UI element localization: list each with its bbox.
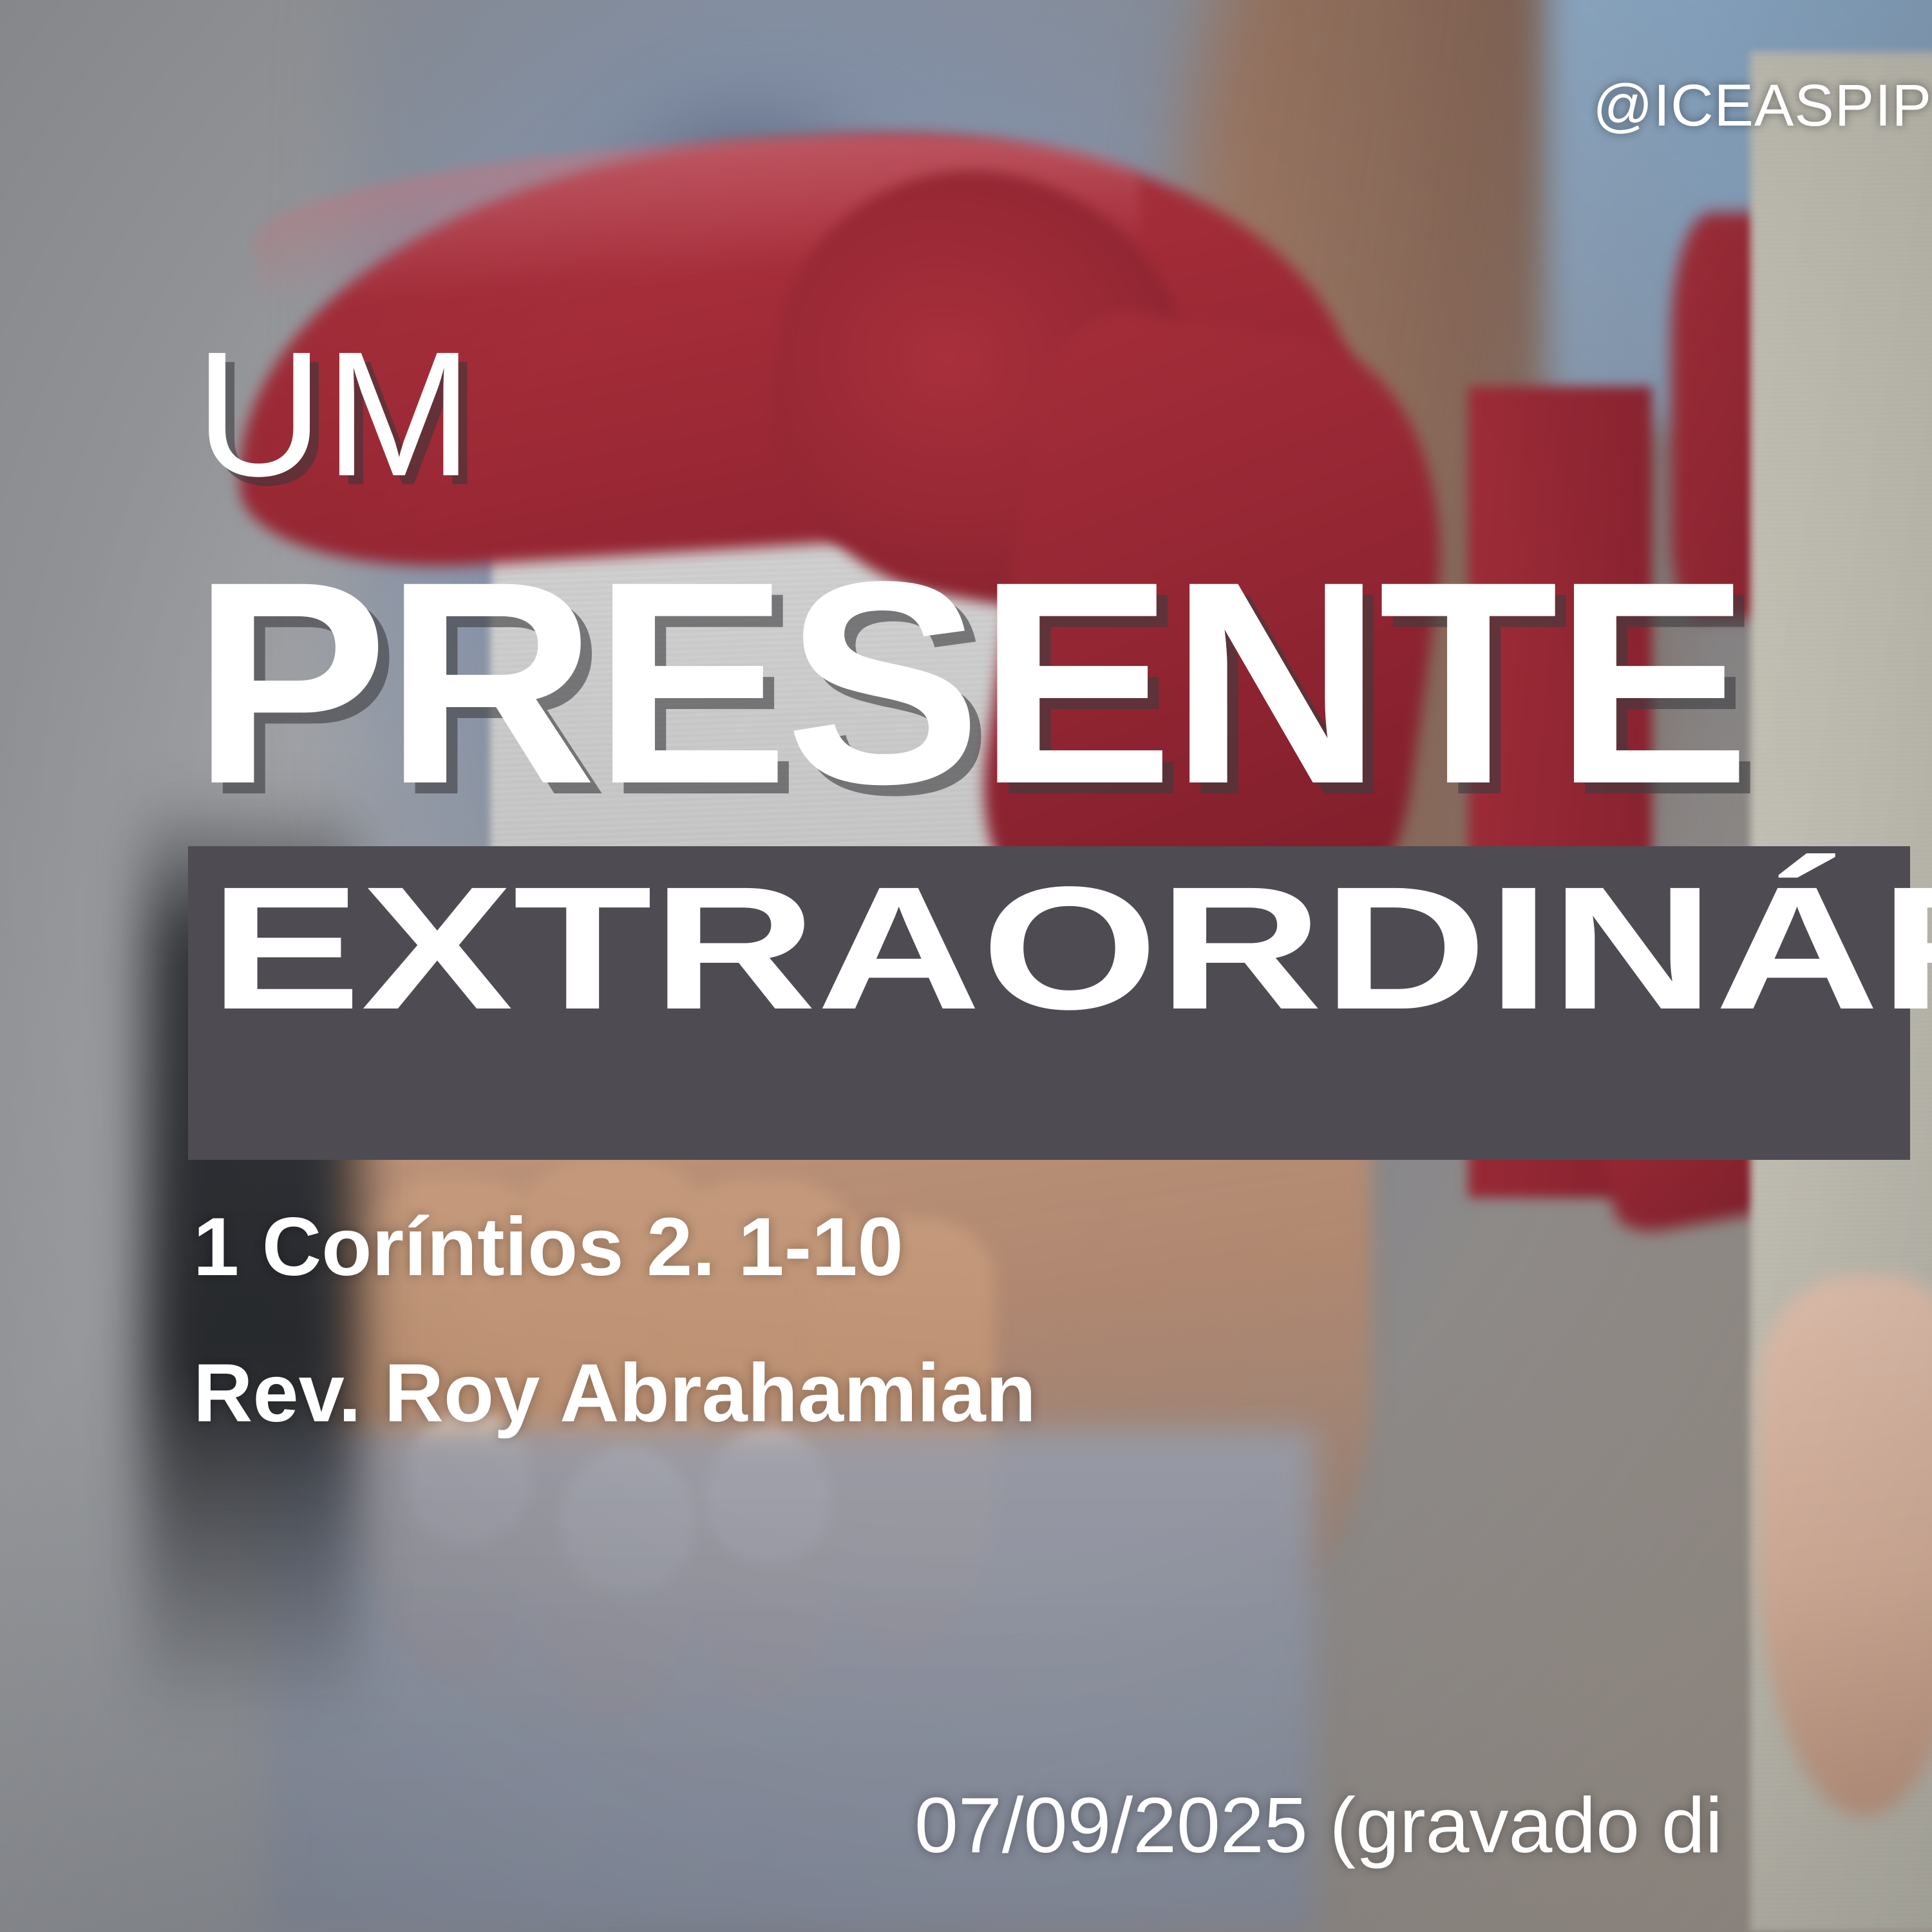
sermon-title-slide: @ICEASPIP UM PRESENTE EXTRAORDINÁRIO 1 C… <box>0 0 1932 1932</box>
scripture-reference: 1 Coríntios 2. 1-10 <box>193 1206 904 1289</box>
social-handle: @ICEASPIP <box>1593 76 1932 135</box>
title-line-presente: PRESENTE <box>192 538 1747 827</box>
title-line-um: UM <box>195 325 474 503</box>
recording-date-note: 07/09/2025 (gravado di <box>914 1786 1723 1864</box>
speaker-name: Rev. Roy Abrahamian <box>193 1352 1036 1435</box>
title-line-extraordinario: EXTRAORDINÁRIO <box>209 860 1932 1036</box>
